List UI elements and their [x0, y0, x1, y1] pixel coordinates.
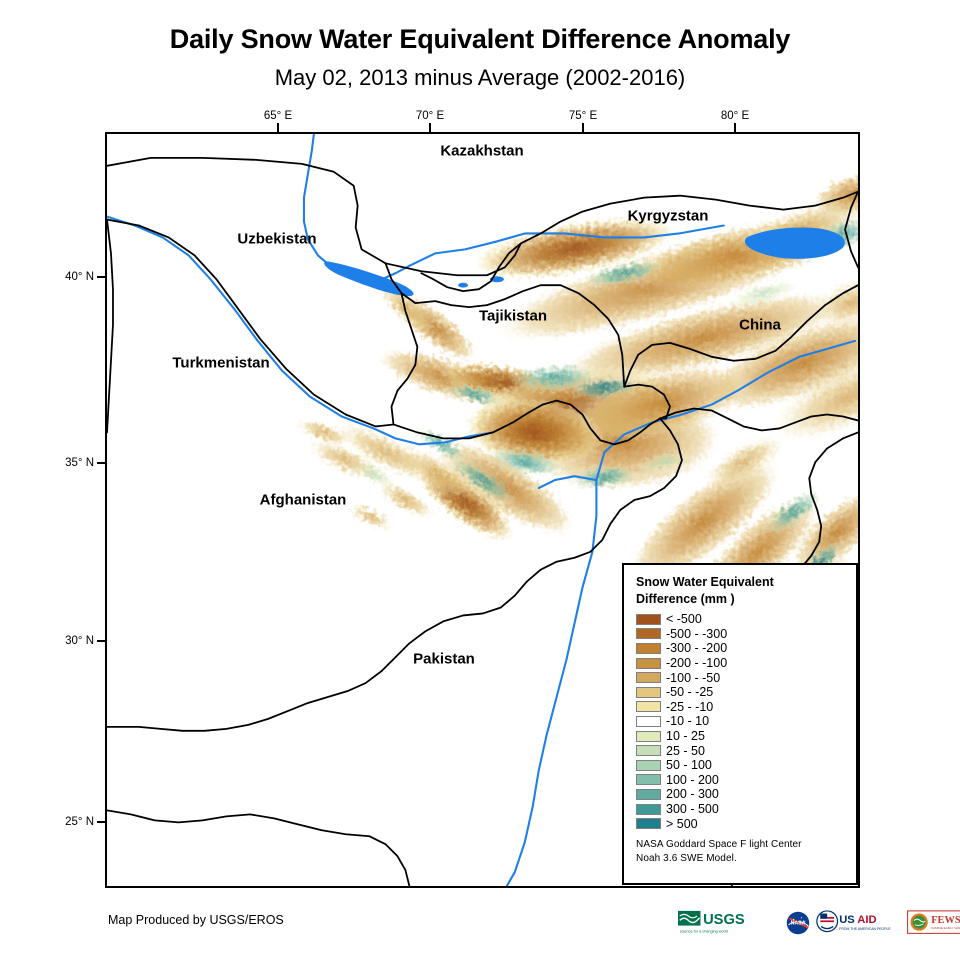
- svg-text:AID: AID: [857, 914, 876, 926]
- legend-label: 200 - 300: [666, 787, 719, 801]
- legend-swatch: [636, 789, 661, 800]
- legend-row: -10 - 10: [636, 714, 846, 729]
- map-legend: Snow Water Equivalent Difference (mm ) <…: [622, 563, 858, 885]
- legend-swatch: [636, 760, 661, 771]
- svg-text:USGS: USGS: [703, 912, 745, 928]
- legend-row: -200 - -100: [636, 656, 846, 671]
- usgs-logo: USGS science for a changing world: [678, 910, 780, 936]
- legend-row: -500 - -300: [636, 627, 846, 642]
- legend-label: > 500: [666, 817, 698, 831]
- lat-tickmark-30n: [97, 640, 106, 642]
- lon-tickmark-75e: [582, 123, 584, 132]
- svg-text:FAMINE EARLY WARNING SYSTEMS N: FAMINE EARLY WARNING SYSTEMS NETWORK: [931, 926, 960, 930]
- svg-text:science for a changing world: science for a changing world: [680, 930, 728, 934]
- svg-text:US: US: [839, 914, 855, 926]
- legend-label: -300 - -200: [666, 641, 727, 655]
- producer-credit: Map Produced by USGS/EROS: [108, 913, 284, 927]
- legend-row: 50 - 100: [636, 758, 846, 773]
- lat-tick-25n: 25° N: [48, 816, 94, 828]
- lon-tick-65e: 65° E: [264, 110, 292, 122]
- legend-row: -25 - -10: [636, 700, 846, 715]
- legend-swatch: [636, 716, 661, 727]
- legend-swatch: [636, 614, 661, 625]
- legend-swatch: [636, 818, 661, 829]
- legend-swatch: [636, 804, 661, 815]
- lat-tick-30n: 30° N: [48, 635, 94, 647]
- legend-items: < -500-500 - -300-300 - -200-200 - -100-…: [636, 612, 846, 831]
- svg-text:FEWS NET: FEWS NET: [931, 915, 960, 926]
- legend-row: < -500: [636, 612, 846, 627]
- lon-tickmark-65e: [277, 123, 279, 132]
- legend-row: 100 - 200: [636, 773, 846, 788]
- legend-label: < -500: [666, 612, 702, 626]
- legend-row: > 500: [636, 816, 846, 831]
- svg-text:FROM THE AMERICAN PEOPLE: FROM THE AMERICAN PEOPLE: [839, 927, 891, 931]
- legend-swatch: [636, 628, 661, 639]
- fewsnet-logo: FEWS NET FAMINE EARLY WARNING SYSTEMS NE…: [907, 910, 960, 936]
- page-subtitle: May 02, 2013 minus Average (2002-2016): [0, 65, 960, 90]
- nasa-logo: NASA: [785, 910, 811, 936]
- lat-tickmark-35n: [97, 462, 106, 464]
- legend-row: 200 - 300: [636, 787, 846, 802]
- legend-swatch: [636, 701, 661, 712]
- legend-swatch: [636, 658, 661, 669]
- page-title: Daily Snow Water Equivalent Difference A…: [0, 24, 960, 55]
- legend-swatch: [636, 774, 661, 785]
- lon-tick-80e: 80° E: [721, 110, 749, 122]
- legend-swatch: [636, 672, 661, 683]
- legend-title: Snow Water Equivalent Difference (mm ): [636, 574, 846, 607]
- legend-label: -50 - -25: [666, 685, 713, 699]
- legend-swatch: [636, 687, 661, 698]
- legend-label: 100 - 200: [666, 773, 719, 787]
- legend-label: 50 - 100: [666, 758, 712, 772]
- logo-strip: USGS science for a changing world NASA U…: [678, 908, 960, 938]
- legend-label: -500 - -300: [666, 627, 727, 641]
- svg-text:NASA: NASA: [791, 921, 806, 927]
- legend-label: 25 - 50: [666, 744, 705, 758]
- legend-swatch: [636, 643, 661, 654]
- legend-label: -10 - 10: [666, 714, 709, 728]
- legend-swatch: [636, 731, 661, 742]
- lon-tick-75e: 75° E: [569, 110, 597, 122]
- legend-label: -200 - -100: [666, 656, 727, 670]
- lat-tickmark-40n: [97, 276, 106, 278]
- legend-row: -100 - -50: [636, 670, 846, 685]
- lat-tickmark-25n: [97, 821, 106, 823]
- legend-row: -50 - -25: [636, 685, 846, 700]
- legend-swatch: [636, 745, 661, 756]
- lon-tickmark-70e: [429, 123, 431, 132]
- title-block: Daily Snow Water Equivalent Difference A…: [0, 24, 960, 90]
- legend-row: 10 - 25: [636, 729, 846, 744]
- legend-label: 10 - 25: [666, 729, 705, 743]
- legend-label: 300 - 500: [666, 802, 719, 816]
- legend-row: 300 - 500: [636, 802, 846, 817]
- lat-tick-40n: 40° N: [48, 271, 94, 283]
- lat-tick-35n: 35° N: [48, 457, 94, 469]
- lon-tick-70e: 70° E: [416, 110, 444, 122]
- usaid-logo: US AID FROM THE AMERICAN PEOPLE: [816, 910, 902, 936]
- lon-tickmark-80e: [734, 123, 736, 132]
- legend-row: -300 - -200: [636, 641, 846, 656]
- legend-source-note: NASA Goddard Space F light Center Noah 3…: [636, 838, 846, 867]
- legend-row: 25 - 50: [636, 743, 846, 758]
- legend-label: -100 - -50: [666, 671, 720, 685]
- legend-label: -25 - -10: [666, 700, 713, 714]
